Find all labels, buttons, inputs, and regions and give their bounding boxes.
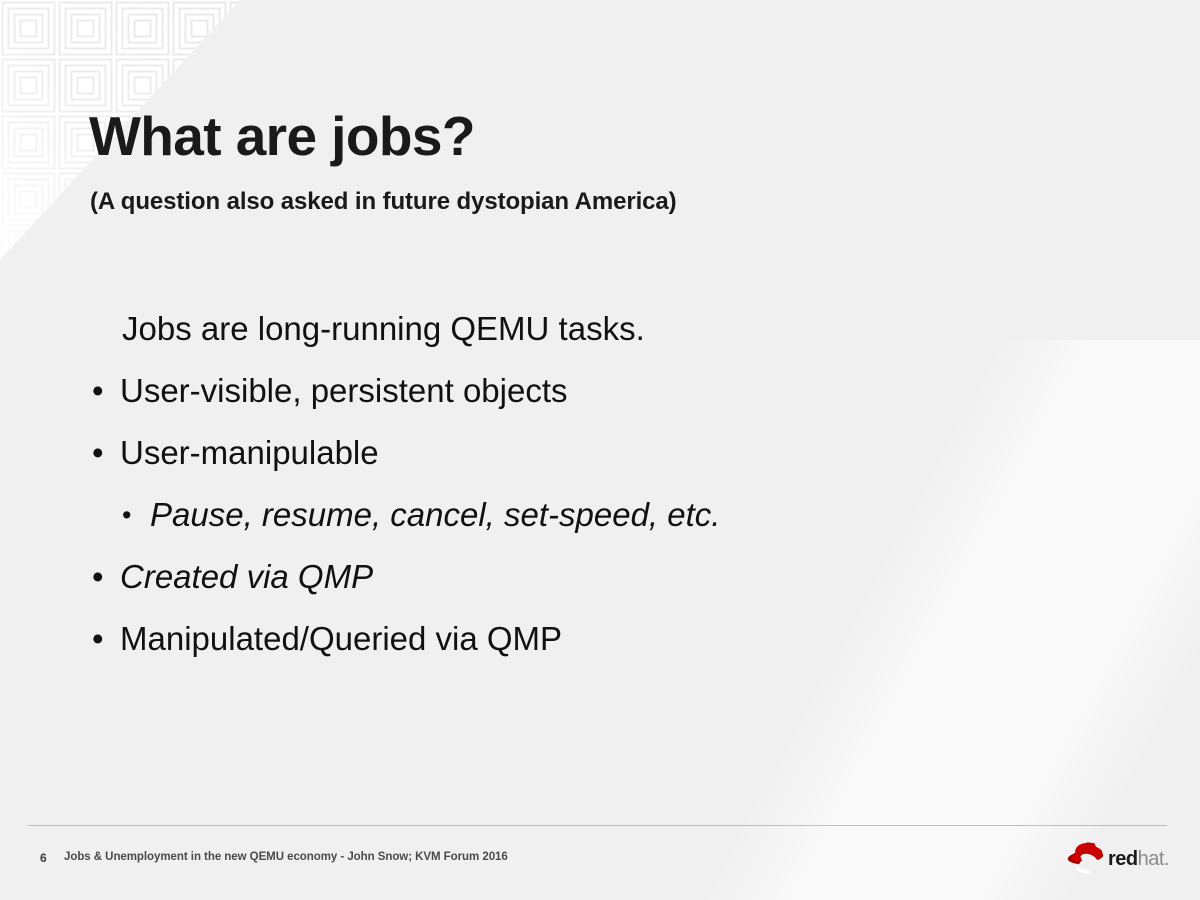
footer-caption: Jobs & Unemployment in the new QEMU econ… — [64, 851, 508, 863]
body-line: • User-manipulable — [0, 422, 1100, 484]
body-line-text: User-visible, persistent objects — [120, 360, 568, 422]
logo-word-red: red — [1108, 848, 1138, 870]
logo-word-hat: hat. — [1138, 848, 1169, 870]
body-line: Jobs are long-running QEMU tasks. — [0, 298, 1100, 360]
bullet-icon: • — [92, 608, 104, 670]
redhat-shadowman-icon — [1066, 842, 1108, 876]
body-line: • User-visible, persistent objects — [0, 360, 1100, 422]
bullet-icon: • — [92, 422, 104, 484]
body-line-text: User-manipulable — [120, 422, 379, 484]
redhat-logo: redhat. — [1066, 842, 1176, 878]
redhat-wordmark: redhat. — [1108, 848, 1169, 870]
body-line-text: Manipulated/Queried via QMP — [120, 608, 562, 670]
body-line: • Manipulated/Queried via QMP — [0, 608, 1100, 670]
bullet-icon: • — [122, 484, 131, 546]
slide-title: What are jobs? — [89, 104, 475, 168]
slide-canvas: What are jobs? (A question also asked in… — [0, 0, 1200, 900]
body-line-text: Jobs are long-running QEMU tasks. — [122, 298, 645, 360]
footer-divider — [28, 825, 1167, 826]
body-line: • Pause, resume, cancel, set-speed, etc. — [0, 484, 1100, 546]
slide-subtitle: (A question also asked in future dystopi… — [90, 188, 677, 216]
body-line: • Created via QMP — [0, 546, 1100, 608]
body-line-text: Created via QMP — [120, 546, 373, 608]
page-number: 6 — [40, 851, 47, 865]
bullet-icon: • — [92, 360, 104, 422]
body-line-text: Pause, resume, cancel, set-speed, etc. — [150, 484, 720, 546]
slide-body: Jobs are long-running QEMU tasks. • User… — [0, 298, 1100, 670]
bullet-icon: • — [92, 546, 104, 608]
